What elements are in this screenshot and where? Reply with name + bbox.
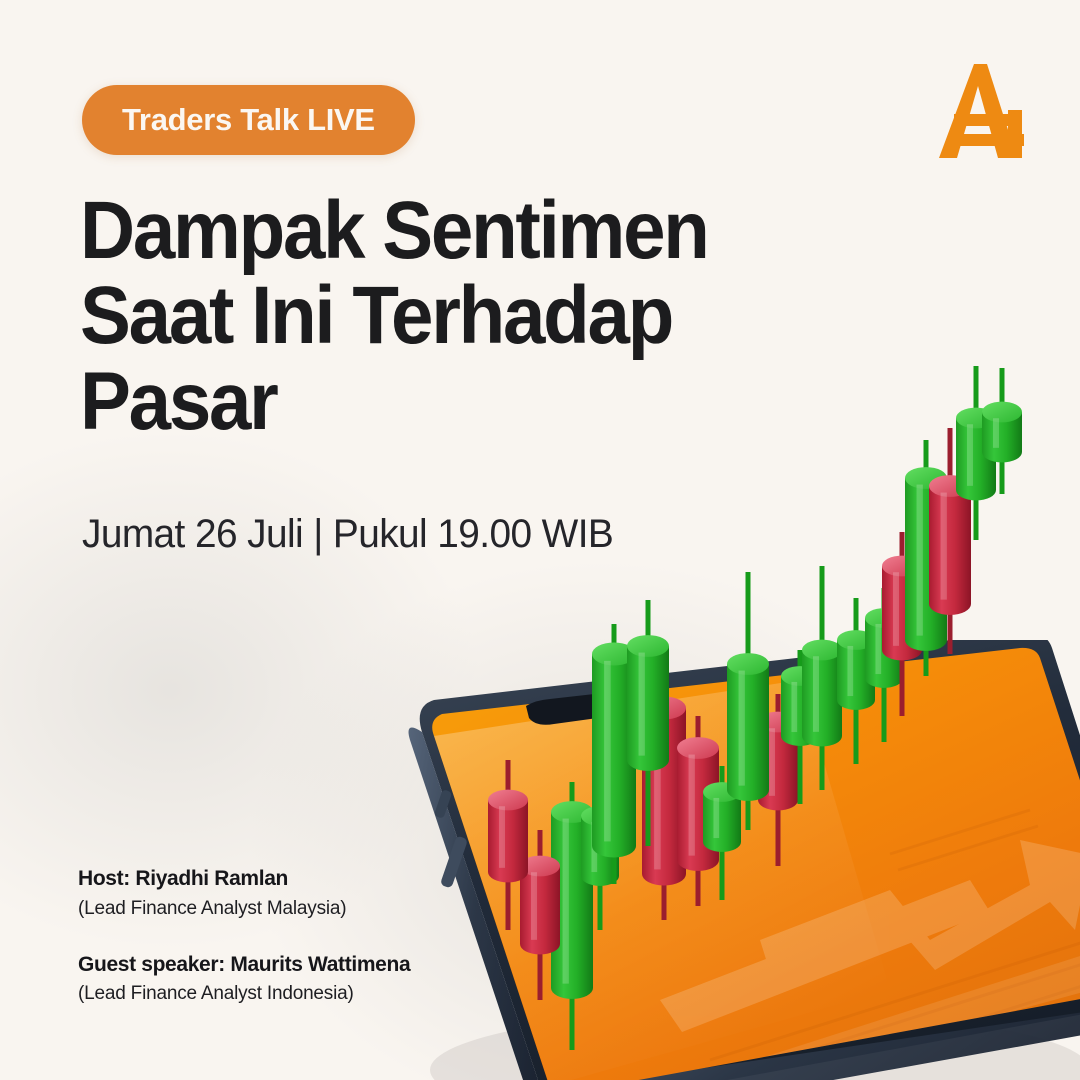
credit-guest-role: (Lead Finance Analyst Indonesia) [78, 982, 548, 1007]
headline-line-1: Dampak Sentimen [80, 188, 787, 273]
schedule-text: Jumat 26 Juli | Pukul 19.00 WIB [82, 512, 613, 557]
traders-talk-live-badge[interactable]: Traders Talk LIVE [82, 85, 415, 155]
badge-label: Traders Talk LIVE [122, 102, 375, 138]
ascendex-a-logo-icon [930, 58, 1030, 163]
candlestick-bullish [982, 368, 1022, 494]
candlestick-bearish [929, 428, 971, 654]
speaker-credits: Host: Riyadhi Ramlan (Lead Finance Analy… [78, 866, 548, 1007]
headline-line-3: Pasar [80, 359, 787, 444]
credit-guest-name: Guest speaker: Maurits Wattimena [78, 952, 548, 979]
page-title: Dampak Sentimen Saat Ini Terhadap Pasar [80, 188, 787, 444]
promo-poster: Traders Talk LIVE Dampak Sentimen Saat I… [0, 0, 1080, 1080]
credit-guest: Guest speaker: Maurits Wattimena (Lead F… [78, 952, 548, 1008]
credit-host: Host: Riyadhi Ramlan (Lead Finance Analy… [78, 866, 548, 922]
smartphone-3d-icon [330, 640, 1080, 1080]
credit-host-name: Host: Riyadhi Ramlan [78, 866, 548, 893]
candlestick-bullish [956, 366, 996, 540]
headline-line-2: Saat Ini Terhadap [80, 273, 787, 358]
credit-host-role: (Lead Finance Analyst Malaysia) [78, 897, 548, 922]
